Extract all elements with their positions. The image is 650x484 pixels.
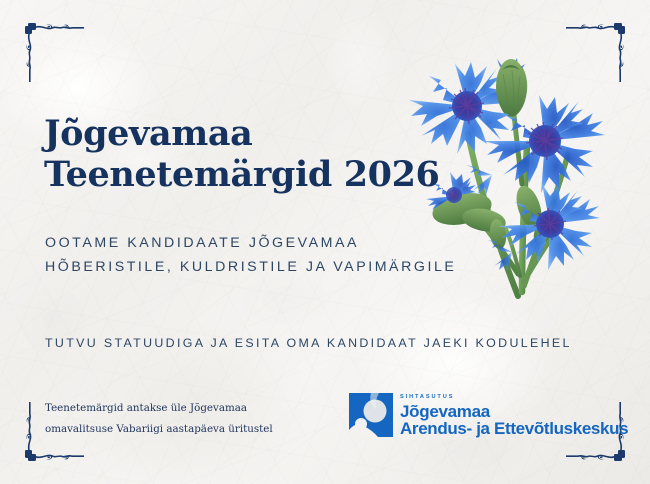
jaek-logo-mark-icon (349, 393, 393, 437)
cornflower-head (483, 95, 605, 193)
call-to-action-text: TUTVU STATUUDIGA JA ESITA OMA KANDIDAAT … (45, 336, 635, 350)
corner-ornament-icon-top-left (8, 6, 86, 84)
footnote-text: Teenetemärgid antakse üle Jõgevamaa omav… (45, 398, 315, 440)
logo-wordmark: SIHTASUTUS Jõgevamaa Arendus- ja Ettevõt… (400, 393, 628, 438)
poster-canvas: Jõgevamaa Teenetemärgid 2026 OOTAME KAND… (0, 0, 650, 484)
organization-logo[interactable]: SIHTASUTUS Jõgevamaa Arendus- ja Ettevõt… (349, 393, 628, 438)
logo-line-2: Arendus- ja Ettevõtluskeskus (400, 420, 628, 438)
logo-kicker: SIHTASUTUS (400, 395, 628, 401)
page-title: Jõgevamaa Teenetemärgid 2026 (44, 114, 444, 195)
subheading-text: OOTAME KANDIDAATE JÕGEVAMAA HÕBERISTILE,… (45, 231, 565, 280)
logo-line-1: Jõgevamaa (400, 403, 628, 420)
cornflower-bud-green (496, 59, 526, 115)
